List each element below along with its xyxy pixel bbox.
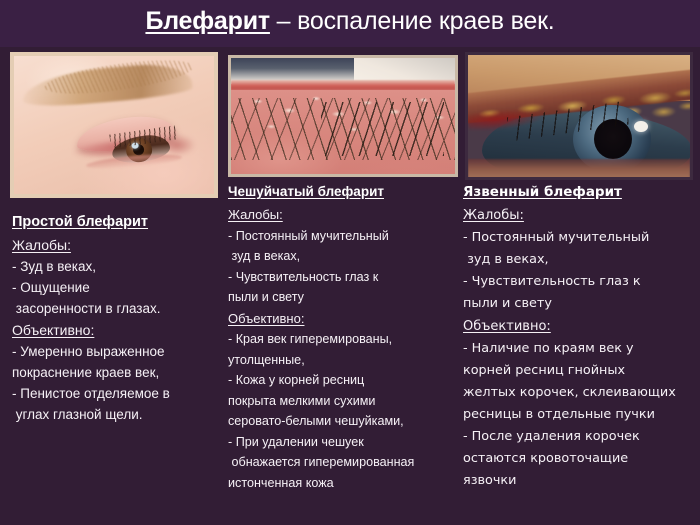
page-title: Блефарит – воспаление краев век. bbox=[0, 4, 700, 38]
list-item: зуд в веках, bbox=[463, 249, 696, 271]
list-item: язвочки bbox=[463, 470, 696, 492]
objective-label-ulcer: Объективно: bbox=[463, 316, 696, 338]
corneal-glint bbox=[634, 121, 648, 132]
list-item: серовато-белыми чешуйками, bbox=[228, 411, 454, 432]
list-item: обнажается гиперемированная bbox=[228, 452, 454, 473]
objective-label-ulcer-text: Объективно: bbox=[463, 319, 551, 334]
list-item: ресницы в отдельные пучки bbox=[463, 404, 696, 426]
column-heading-ulcer-text: Язвенный блефарит bbox=[463, 184, 622, 200]
list-item: зуд в веках, bbox=[228, 246, 454, 267]
complaints-label-ulcer-text: Жалобы: bbox=[463, 208, 524, 223]
list-item: углах глазной щели. bbox=[12, 404, 217, 425]
sclera-region-right bbox=[354, 58, 455, 82]
list-item: засоренности в глазах. bbox=[12, 298, 217, 319]
complaints-label-scaly-text: Жалобы: bbox=[228, 207, 283, 222]
list-item: - Зуд в веках, bbox=[12, 256, 217, 277]
objective-label-scaly-text: Объективно: bbox=[228, 311, 304, 326]
list-item: истонченная кожа bbox=[228, 473, 454, 494]
list-item: - Наличие по краям век у bbox=[463, 338, 696, 360]
list-item: - Чувствительность глаз к bbox=[463, 271, 696, 293]
list-item: - После удаления корочек bbox=[463, 426, 696, 448]
list-item: - Умеренно выраженное bbox=[12, 341, 217, 362]
list-item: утолщенные, bbox=[228, 350, 454, 371]
list-item: - Кожа у корней ресниц bbox=[228, 370, 454, 391]
list-item: корней ресниц гнойных bbox=[463, 360, 696, 382]
list-item: пыли и свету bbox=[463, 293, 696, 315]
column-simple-blepharitis: Простой блефарит Жалобы: - Зуд в веках, … bbox=[12, 212, 217, 425]
eyelashes-secondary bbox=[321, 102, 444, 156]
list-item: - Ощущение bbox=[12, 277, 217, 298]
lower-eyelid bbox=[468, 159, 690, 180]
list-item: остаются кровоточащие bbox=[463, 448, 696, 470]
list-item: пыли и свету bbox=[228, 287, 454, 308]
column-heading-simple-text: Простой блефарит bbox=[12, 214, 148, 230]
complaints-label-simple-text: Жалобы: bbox=[12, 237, 71, 253]
photo-ulcerative-blepharitis bbox=[465, 52, 693, 180]
list-item: покрыта мелкими сухими bbox=[228, 391, 454, 412]
photo-scaly-blepharitis bbox=[228, 55, 458, 177]
complaints-label-ulcer: Жалобы: bbox=[463, 205, 696, 227]
list-item: - Пенистое отделяемое в bbox=[12, 383, 217, 404]
list-item: желтых корочек, склеивающих bbox=[463, 382, 696, 404]
column-heading-simple: Простой блефарит bbox=[12, 212, 217, 232]
objective-label-scaly: Объективно: bbox=[228, 309, 454, 330]
column-scaly-blepharitis: Чешуйчатый блефарит Жалобы: - Постоянный… bbox=[228, 182, 454, 493]
objective-label-simple: Объективно: bbox=[12, 320, 217, 341]
list-item: - При удалении чешуек bbox=[228, 432, 454, 453]
objective-label-simple-text: Объективно: bbox=[12, 322, 94, 338]
list-item: - Постоянный мучительный bbox=[228, 226, 454, 247]
complaints-label-scaly: Жалобы: bbox=[228, 205, 454, 226]
page-title-rest: – воспаление краев век. bbox=[270, 7, 555, 35]
photo-simple-blepharitis bbox=[10, 52, 218, 198]
list-item: - Края век гиперемированы, bbox=[228, 329, 454, 350]
list-item: - Чувствительность глаз к bbox=[228, 267, 454, 288]
list-item: - Постоянный мучительный bbox=[463, 227, 696, 249]
column-heading-scaly: Чешуйчатый блефарит bbox=[228, 182, 454, 202]
infographic-page: Блефарит – воспаление краев век. bbox=[0, 0, 700, 525]
column-heading-scaly-text: Чешуйчатый блефарит bbox=[228, 184, 384, 199]
complaints-label-simple: Жалобы: bbox=[12, 235, 217, 256]
column-heading-ulcer: Язвенный блефарит bbox=[463, 182, 696, 202]
page-title-keyword: Блефарит bbox=[145, 7, 270, 35]
list-item: покраснение краев век, bbox=[12, 362, 217, 383]
column-ulcerative-blepharitis: Язвенный блефарит Жалобы: - Постоянный м… bbox=[463, 182, 696, 492]
